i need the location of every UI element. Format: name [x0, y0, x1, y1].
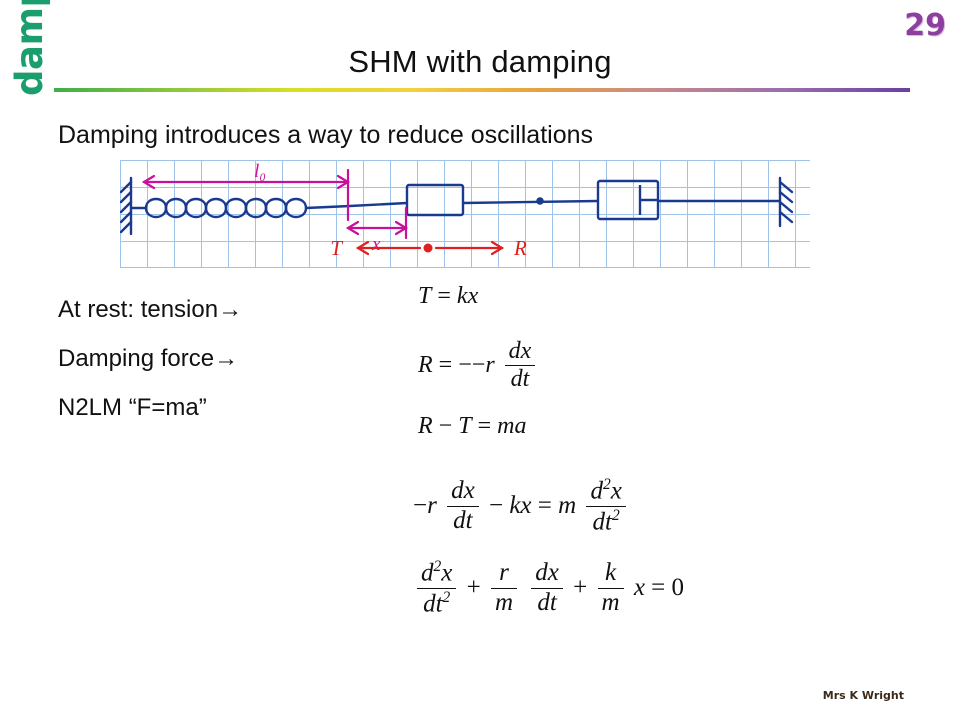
fraction-d2x-dt2-2: d2x dt2	[417, 559, 456, 617]
equals-sign-2: =	[439, 352, 459, 378]
equation-tension: T = kx	[418, 283, 478, 310]
symbol-k-3: k	[605, 559, 616, 586]
symbol-x: x	[468, 283, 479, 309]
author-footer: Mrs K Wright	[823, 689, 904, 702]
equation-newton: R − T = ma	[418, 413, 526, 440]
label-damping-force: Damping force→	[58, 334, 242, 383]
damping-label: R	[513, 236, 527, 260]
fraction-dx-dt-2: dx dt	[447, 478, 479, 534]
minus-sign-2: −	[439, 413, 459, 439]
symbol-zero: 0	[672, 574, 685, 601]
symbol-x-5: x	[611, 477, 622, 504]
symbol-x-2: x	[521, 338, 532, 364]
symbol-m-4: m	[602, 589, 620, 616]
fraction-dx-dt-3: dx dt	[531, 560, 563, 616]
symbol-d-2: d	[511, 366, 523, 392]
minus-sign-1: −	[458, 352, 472, 378]
plus-sign-1: +	[467, 574, 481, 601]
symbol-t-2: t	[466, 507, 473, 534]
connecting-rod	[463, 198, 598, 203]
symbol-d-8: d	[423, 590, 436, 617]
left-wall	[121, 178, 131, 234]
label-at-rest-tension: At rest: tension→	[58, 285, 242, 334]
symbol-d-1: d	[509, 338, 521, 364]
section-word: damping	[0, 0, 58, 200]
equals-sign-1: =	[437, 283, 457, 309]
symbol-x-3: x	[464, 477, 475, 504]
symbol-r-2: r	[427, 492, 437, 519]
symbol-m-3: m	[495, 589, 513, 616]
equals-sign-4: =	[538, 492, 558, 519]
page-title: SHM with damping	[0, 44, 960, 80]
symbol-d-5: d	[590, 477, 603, 504]
equation-substituted: −r dx dt − kx = m d2x dt2	[413, 478, 630, 536]
symbol-x-8: x	[634, 574, 645, 601]
symbol-d-7: d	[421, 559, 434, 586]
symbol-d-4: d	[453, 507, 466, 534]
tension-label: T	[330, 236, 343, 260]
damping-diagram: l₀ x T R	[120, 160, 810, 268]
fraction-dx-dt-1: dx dt	[505, 339, 536, 392]
fraction-d2x-dt2-1: d2x dt2	[586, 477, 625, 535]
symbol-d-3: d	[451, 477, 464, 504]
symbol-k-2: k	[509, 492, 520, 519]
title-divider	[54, 88, 910, 92]
fraction-k-m: k m	[598, 560, 624, 616]
symbol-t-4: t	[436, 590, 443, 617]
equation-damping-force: R = −−r dx dt	[418, 340, 539, 393]
symbol-T: T	[418, 283, 431, 309]
symbol-t-1: t	[523, 366, 530, 392]
symbol-d-6: d	[593, 508, 606, 535]
displacement-label: x	[371, 234, 381, 255]
plus-sign-2: +	[573, 574, 587, 601]
exponent-2-a: 2	[603, 476, 611, 493]
fraction-r-m: r m	[491, 560, 517, 616]
symbol-m-2: m	[558, 492, 576, 519]
lead-text: Damping introduces a way to reduce oscil…	[58, 121, 593, 150]
length-label: l₀	[254, 161, 266, 182]
symbol-x-7: x	[548, 559, 559, 586]
slide-number: 29	[904, 8, 946, 43]
symbol-k: k	[457, 283, 468, 309]
right-wall	[780, 178, 792, 226]
symbol-t-3: t	[605, 508, 612, 535]
exponent-2-b: 2	[612, 507, 620, 524]
symbol-x-4: x	[520, 492, 531, 519]
label-n2lm: N2LM “F=ma”	[58, 383, 242, 432]
symbol-m: m	[497, 413, 514, 439]
minus-sign-4: −	[489, 492, 503, 519]
symbol-d-9: d	[535, 559, 548, 586]
symbol-R-2: R	[418, 413, 433, 439]
symbol-x-6: x	[441, 559, 452, 586]
exponent-2-d: 2	[443, 589, 451, 606]
symbol-R: R	[418, 352, 433, 378]
label-column: At rest: tension→ Damping force→ N2LM “F…	[58, 285, 242, 432]
symbol-t-5: t	[550, 589, 557, 616]
equals-sign-3: =	[478, 413, 498, 439]
symbol-T-2: T	[458, 413, 471, 439]
damping-diagram-svg: l₀ x T R	[120, 160, 810, 268]
symbol-a: a	[514, 413, 526, 439]
equation-final-ode: d2x dt2 + r m dx dt + k m x = 0	[413, 560, 684, 618]
minus-sign-3: −	[413, 492, 427, 519]
dashpot	[598, 181, 780, 219]
symbol-r: r	[485, 352, 494, 378]
symbol-d-10: d	[537, 589, 550, 616]
equals-sign-5: =	[651, 574, 671, 601]
symbol-r-3: r	[499, 559, 509, 586]
